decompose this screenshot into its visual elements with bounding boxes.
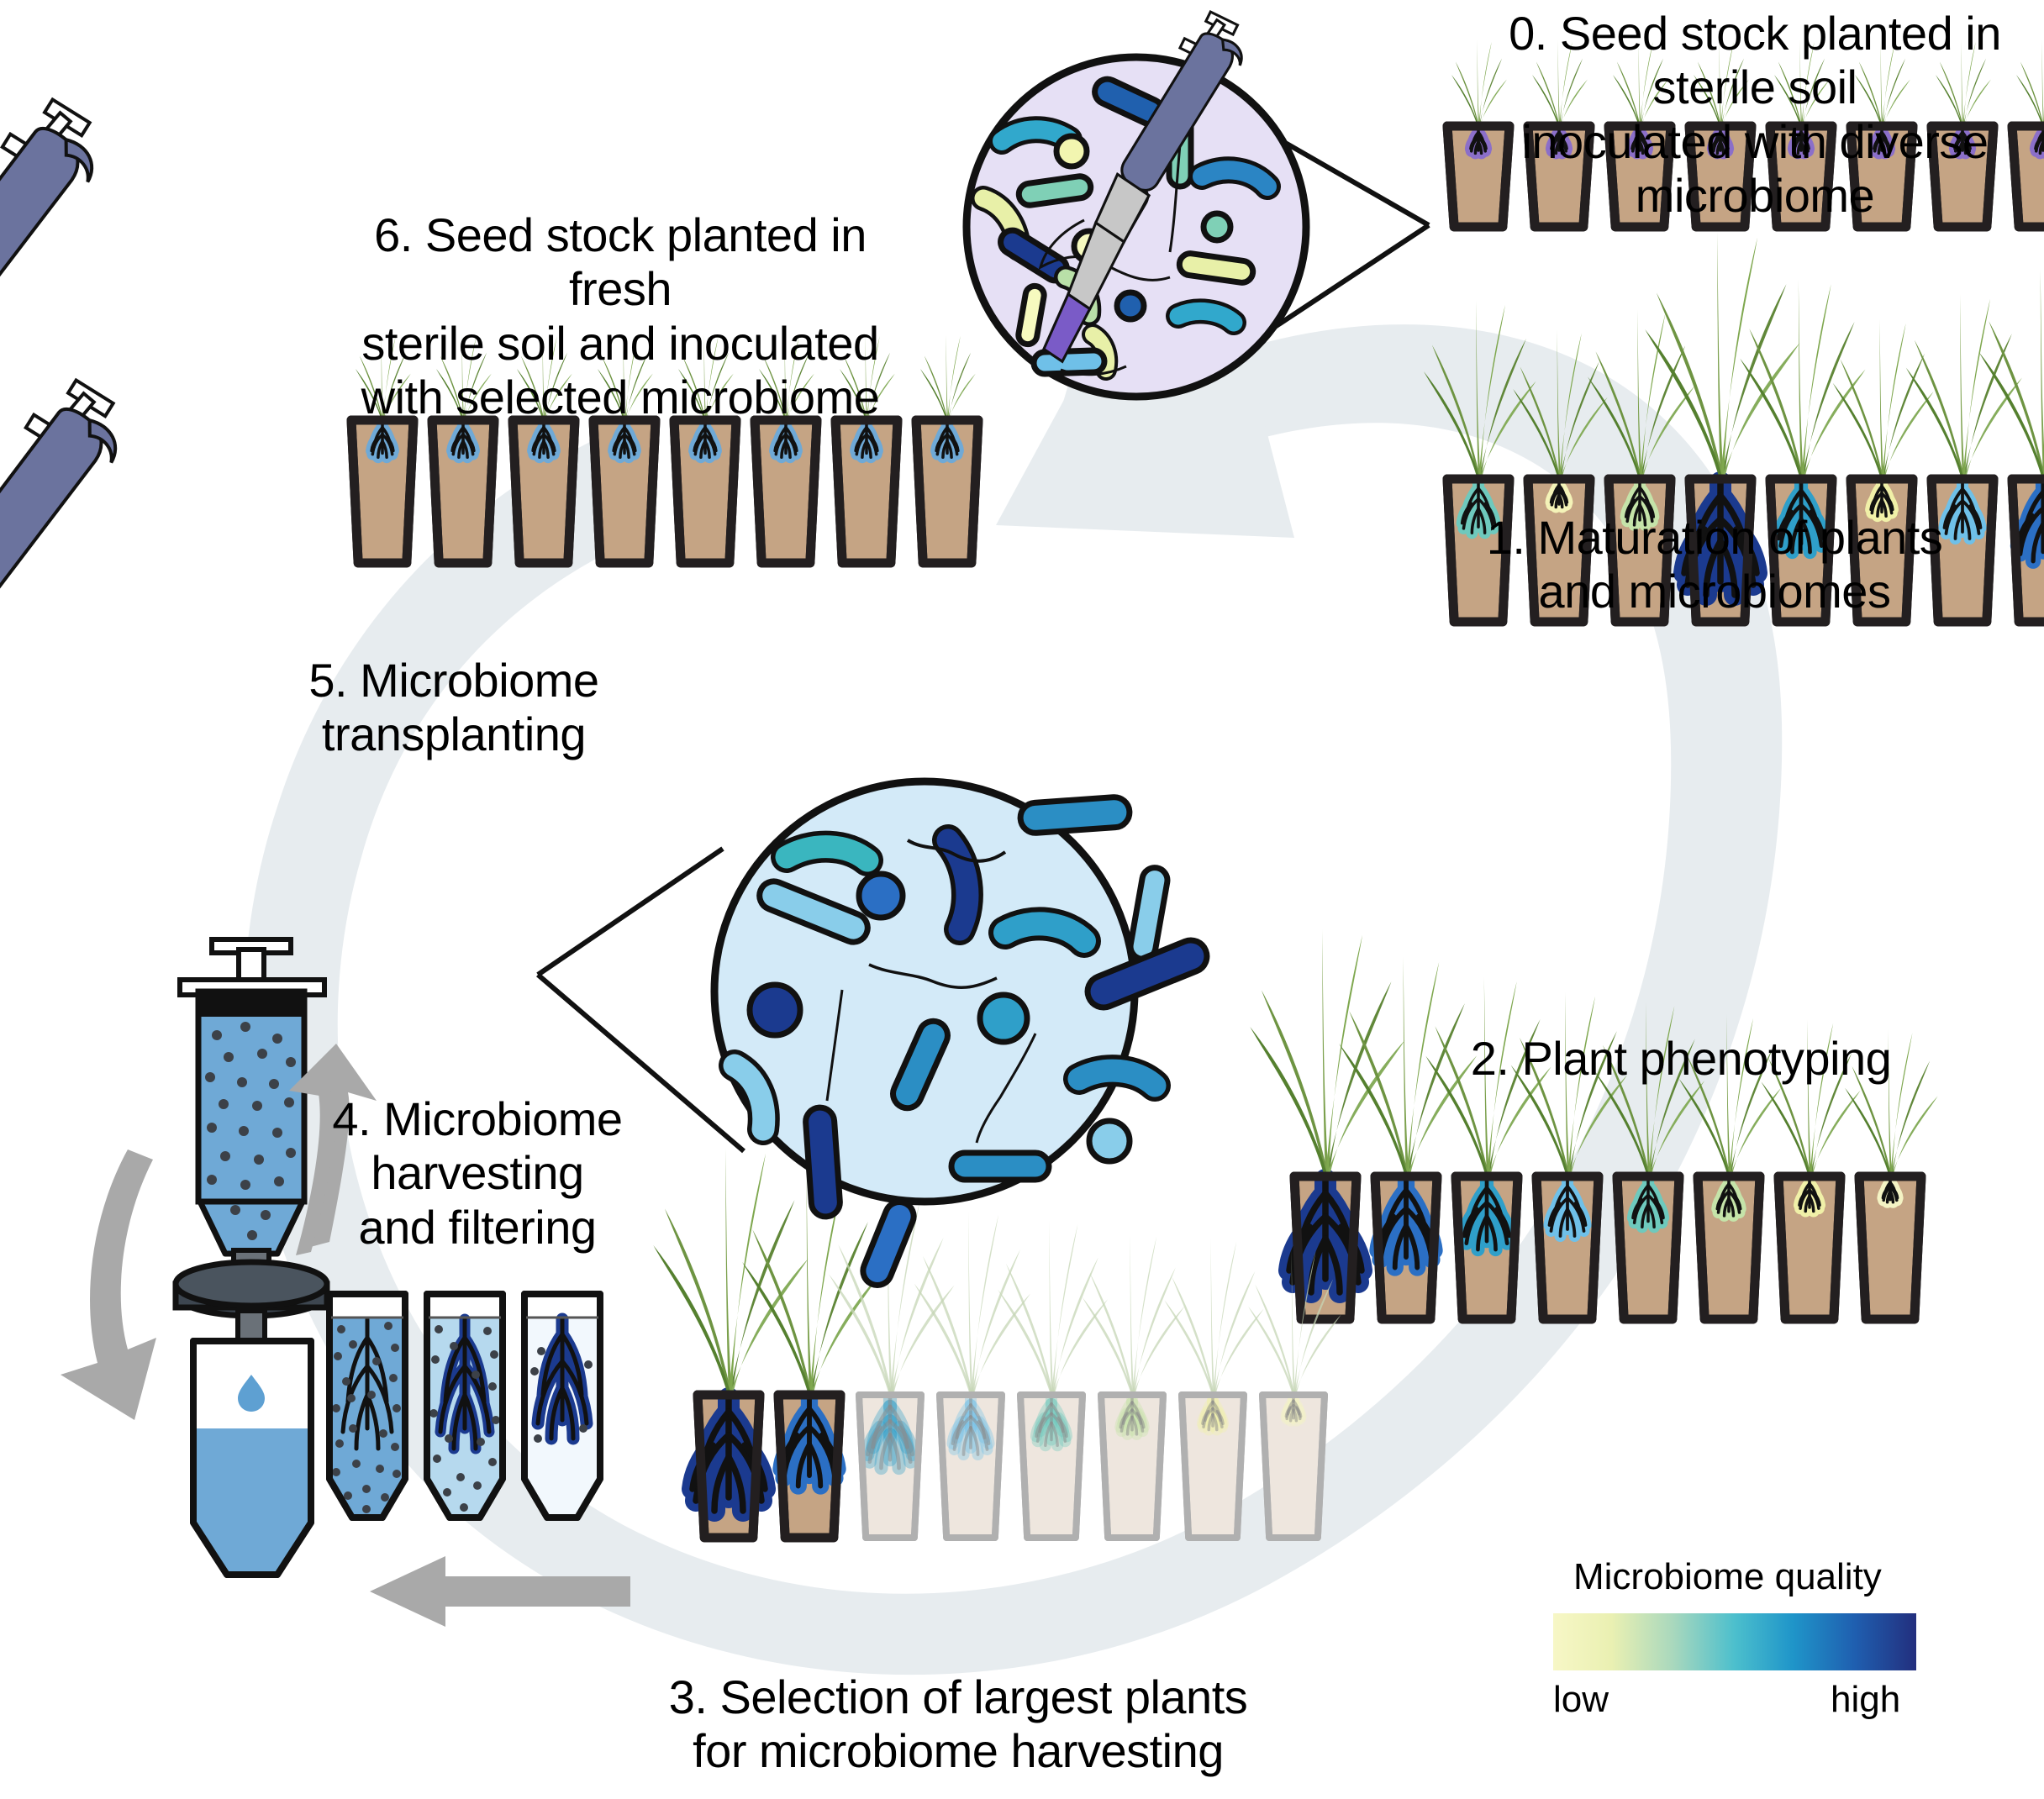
filter-syringe-assembly <box>176 939 327 1575</box>
pot <box>1339 956 1477 1319</box>
plant-row-3 <box>653 1148 1341 1538</box>
pot <box>1250 929 1404 1319</box>
pipette-step0 <box>997 5 1273 362</box>
pot <box>1165 1238 1264 1538</box>
diagram-svg <box>0 0 2044 1799</box>
pot <box>653 1148 808 1538</box>
arrow-syringe-down <box>61 1149 156 1420</box>
legend-title: Microbiome quality <box>1573 1556 1882 1598</box>
pipette-step6 <box>0 88 137 579</box>
legend-low-label: low <box>1553 1679 1609 1721</box>
pot <box>1425 976 1551 1319</box>
step-label-2: 2. Plant phenotyping <box>1429 1032 1933 1086</box>
step-label-4: 4. Microbiome harvesting and filtering <box>309 1092 645 1255</box>
legend-high-label: high <box>1831 1679 1900 1721</box>
pot <box>916 334 978 563</box>
step-label-0: 0. Seed stock planted in sterile soil in… <box>1461 7 2044 224</box>
pot <box>829 1195 954 1538</box>
microbiome-quality-legend <box>1553 1613 1916 1670</box>
wash-tube-1 <box>329 1294 405 1518</box>
pot <box>998 1220 1108 1538</box>
pot <box>1979 269 2044 622</box>
wash-tube-2 <box>427 1294 503 1518</box>
arrow-selection-to-tubes <box>370 1556 630 1627</box>
step-label-3: 3. Selection of largest plants for micro… <box>664 1670 1252 1779</box>
diverse-microbiome-dish <box>967 57 1429 397</box>
wash-tube-3 <box>524 1294 600 1518</box>
step-label-6: 6. Seed stock planted in fresh sterile s… <box>326 208 914 425</box>
pot <box>914 1210 1030 1538</box>
pot <box>742 1175 880 1538</box>
cycle-arrow-swoosh <box>244 277 1782 1675</box>
pot <box>1248 1248 1341 1538</box>
step-label-1: 1. Maturation of plants and microbiomes <box>1479 511 1950 619</box>
step-label-5: 5. Microbiome transplanting <box>277 654 630 762</box>
pot <box>1083 1233 1185 1538</box>
pipette-step5 <box>0 369 168 911</box>
figure-canvas: 0. Seed stock planted in sterile soil in… <box>0 0 2044 1799</box>
plant-row-2 <box>1250 929 1937 1319</box>
